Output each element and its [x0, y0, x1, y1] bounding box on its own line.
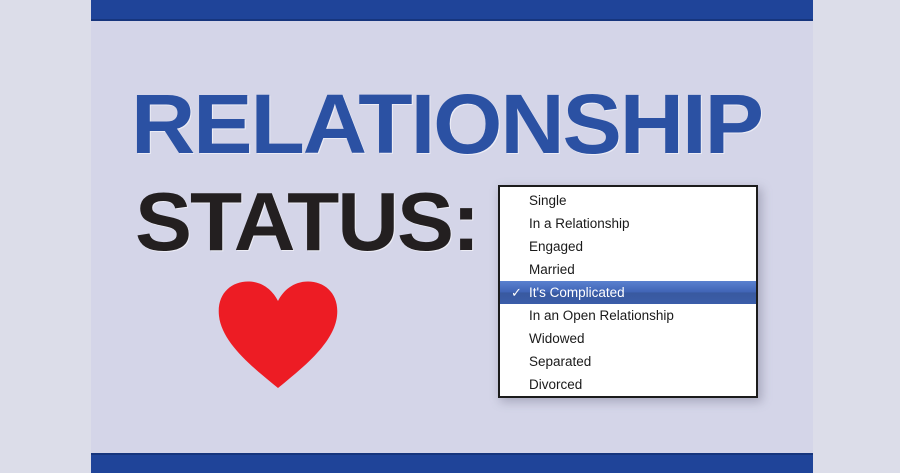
dropdown-option[interactable]: ✓It's Complicated [500, 281, 756, 304]
checkmark-icon: ✓ [511, 281, 525, 304]
dropdown-option-label: Single [529, 193, 567, 208]
dropdown-option[interactable]: ✓In an Open Relationship [500, 304, 756, 327]
dropdown-option[interactable]: ✓Divorced [500, 373, 756, 396]
dropdown-option-label: Engaged [529, 239, 583, 254]
dropdown-option[interactable]: ✓Single [500, 189, 756, 212]
dropdown-option[interactable]: ✓Married [500, 258, 756, 281]
relationship-status-dropdown[interactable]: ✓Single✓In a Relationship✓Engaged✓Marrie… [498, 185, 758, 398]
dropdown-option-label: Widowed [529, 331, 585, 346]
dropdown-option-label: It's Complicated [529, 285, 625, 300]
poster-canvas: RELATIONSHIP STATUS: ✓Single✓In a Relati… [0, 0, 900, 473]
dropdown-option[interactable]: ✓Engaged [500, 235, 756, 258]
dropdown-option-label: In a Relationship [529, 216, 630, 231]
dropdown-option[interactable]: ✓Separated [500, 350, 756, 373]
top-blue-bar [91, 0, 813, 21]
dropdown-option[interactable]: ✓In a Relationship [500, 212, 756, 235]
dropdown-option[interactable]: ✓Widowed [500, 327, 756, 350]
heart-icon [216, 280, 340, 390]
dropdown-option-label: Divorced [529, 377, 582, 392]
bottom-blue-bar [91, 453, 813, 473]
dropdown-option-list: ✓Single✓In a Relationship✓Engaged✓Marrie… [500, 187, 756, 396]
dropdown-option-label: Separated [529, 354, 591, 369]
dropdown-option-label: Married [529, 262, 575, 277]
dropdown-option-label: In an Open Relationship [529, 308, 674, 323]
